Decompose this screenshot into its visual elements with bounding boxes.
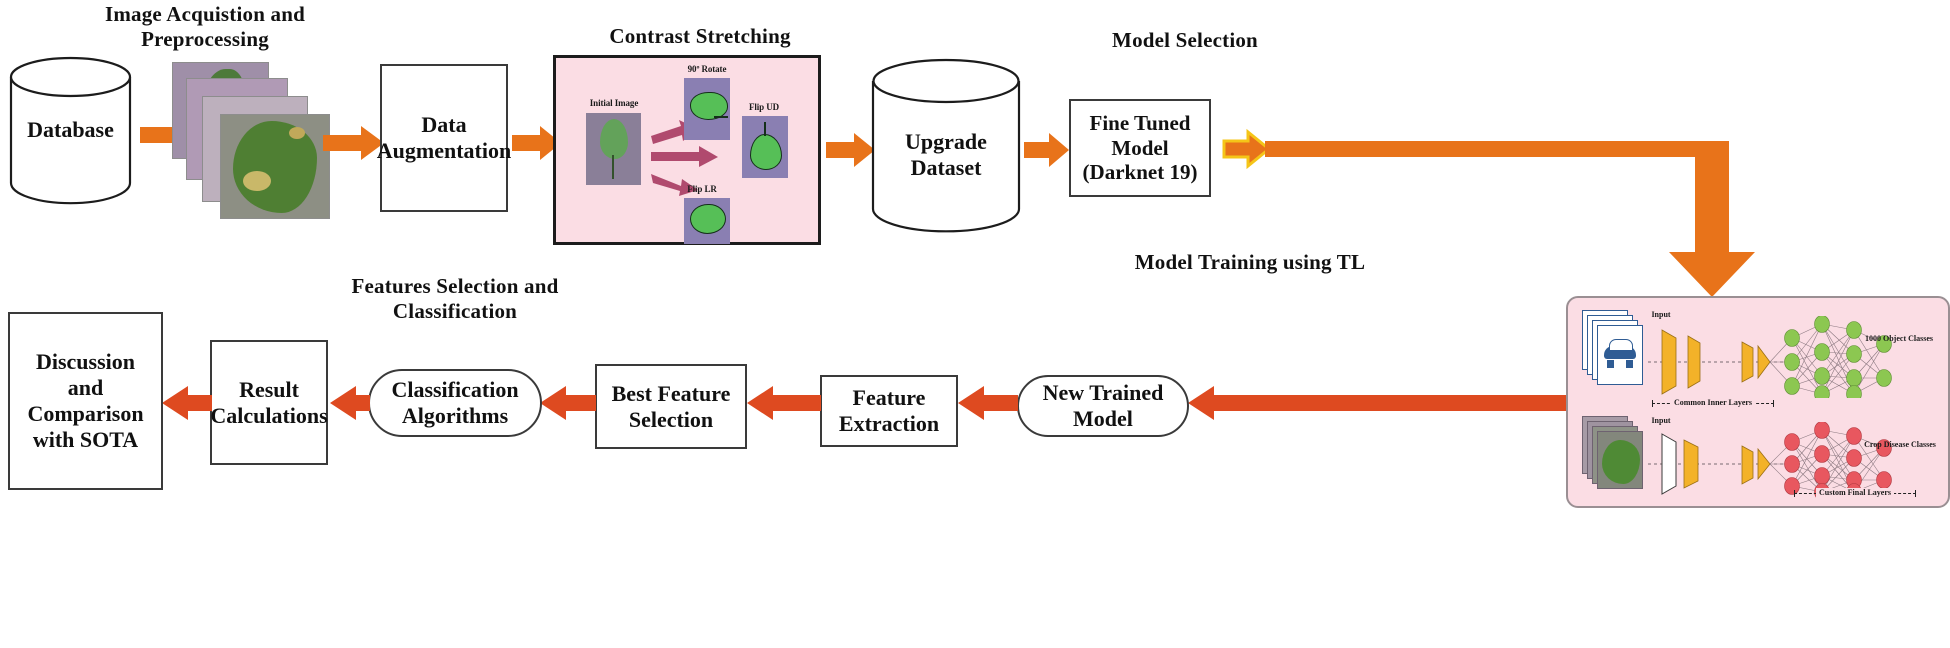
thumb-rotate bbox=[684, 78, 730, 140]
label-top-output: 1000 Object Classes bbox=[1860, 334, 1938, 343]
label-bottom-output: Crop Disease Classes bbox=[1860, 440, 1940, 449]
node-classification-algorithms-label: Classification Algorithms bbox=[376, 377, 534, 429]
label-initial-image: Initial Image bbox=[574, 98, 654, 108]
thumb-flip-ud bbox=[742, 116, 788, 178]
database-label: Database bbox=[8, 117, 133, 143]
node-discussion-comparison[interactable]: Discussion and Comparison with SOTA bbox=[8, 312, 163, 490]
heading-model-selection: Model Selection bbox=[1040, 28, 1330, 53]
database-cylinder: Database bbox=[8, 55, 133, 205]
node-new-trained-model-label: New Trained Model bbox=[1025, 380, 1181, 432]
heading-contrast-stretching: Contrast Stretching bbox=[570, 24, 830, 49]
node-fine-tuned-model[interactable]: Fine Tuned Model (Darknet 19) bbox=[1069, 99, 1211, 197]
contrast-stretching-panel: Initial Image 90º Rotate Fl bbox=[553, 55, 821, 245]
arrow-flip-ud bbox=[651, 146, 719, 168]
label-rotate: 90º Rotate bbox=[662, 64, 752, 74]
transfer-learning-panel: Input bbox=[1566, 296, 1950, 508]
arrow-model-to-training bbox=[1210, 132, 1755, 302]
label-flip-lr: Flip LR bbox=[662, 184, 742, 194]
bracket-custom-final-layers-label: Custom Final Layers bbox=[1816, 488, 1894, 497]
car-image-stack bbox=[1582, 310, 1644, 390]
node-result-calculations[interactable]: Result Calculations bbox=[210, 340, 328, 465]
arrow-dataset-to-model bbox=[1024, 133, 1070, 167]
upgrade-dataset-cylinder: Upgrade Dataset bbox=[870, 57, 1022, 235]
leaf-image-stack bbox=[1582, 416, 1644, 496]
node-result-calculations-label: Result Calculations bbox=[210, 377, 327, 429]
bracket-common-inner-layers-label: Common Inner Layers bbox=[1671, 398, 1755, 407]
thumb-initial-image bbox=[586, 113, 641, 185]
arrow-new-model-to-feature-extraction bbox=[958, 386, 1018, 420]
sample-image-stack bbox=[172, 62, 322, 212]
arrow-feature-extraction-to-best-feature bbox=[747, 386, 821, 420]
node-feature-extraction-label: Feature Extraction bbox=[828, 385, 950, 437]
node-classification-algorithms[interactable]: Classification Algorithms bbox=[368, 369, 542, 437]
label-flip-ud: Flip UD bbox=[728, 102, 800, 112]
arrow-result-to-discussion bbox=[162, 386, 212, 420]
upgrade-dataset-label: Upgrade Dataset bbox=[870, 129, 1022, 181]
thumb-flip-lr bbox=[684, 198, 730, 244]
node-best-feature-selection[interactable]: Best Feature Selection bbox=[595, 364, 747, 449]
node-data-augmentation-label: Data Augmentation bbox=[377, 112, 511, 164]
heading-image-acquisition: Image Acquistion and Preprocessing bbox=[40, 2, 370, 52]
flowchart-canvas: Image Acquistion and Preprocessing Contr… bbox=[0, 0, 1950, 648]
node-data-augmentation[interactable]: Data Augmentation bbox=[380, 64, 508, 212]
top-network-diagram bbox=[1640, 316, 1940, 398]
node-fine-tuned-model-label: Fine Tuned Model (Darknet 19) bbox=[1077, 111, 1203, 185]
heading-features-selection: Features Selection and Classification bbox=[330, 274, 580, 324]
sample-image-4 bbox=[220, 114, 330, 219]
arrow-images-to-augmentation bbox=[323, 126, 385, 160]
arrow-training-to-new-model bbox=[1188, 386, 1566, 420]
node-feature-extraction[interactable]: Feature Extraction bbox=[820, 375, 958, 447]
bracket-custom-final-layers: Custom Final Layers bbox=[1794, 486, 1916, 500]
arrow-best-feature-to-classification bbox=[540, 386, 596, 420]
arrow-contrast-to-dataset bbox=[826, 133, 876, 167]
arrow-classification-to-result bbox=[330, 386, 370, 420]
bracket-common-inner-layers: Common Inner Layers bbox=[1652, 396, 1774, 410]
node-best-feature-selection-label: Best Feature Selection bbox=[603, 381, 739, 433]
node-new-trained-model[interactable]: New Trained Model bbox=[1017, 375, 1189, 437]
node-discussion-comparison-label: Discussion and Comparison with SOTA bbox=[16, 349, 155, 453]
